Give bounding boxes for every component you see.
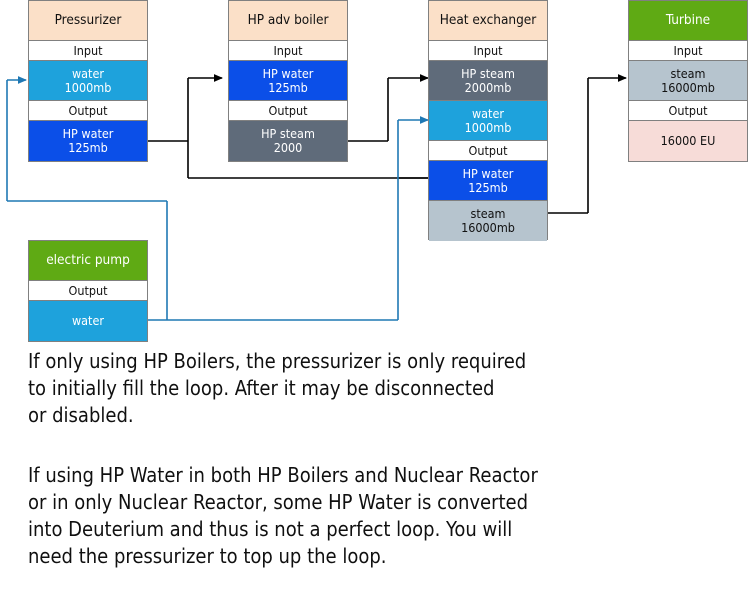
fluid-name: HP water: [463, 167, 514, 181]
eu-amount: 16000 EU: [661, 134, 716, 148]
io-label-output: Output: [29, 281, 147, 301]
fluid-slot-water[interactable]: water 1000mb: [29, 61, 147, 101]
fluid-name: water: [472, 107, 504, 121]
io-label-input: Input: [29, 41, 147, 61]
fluid-amount: 16000mb: [661, 81, 715, 95]
fluid-name: steam: [670, 67, 705, 81]
fluid-slot-water[interactable]: water 1000mb: [429, 101, 547, 141]
fluid-slot-hp-water[interactable]: HP water 125mb: [429, 161, 547, 201]
note-paragraph-1: If only using HP Boilers, the pressurize…: [28, 348, 728, 429]
node-heat-exchanger[interactable]: Heat exchanger Input HP steam 2000mb wat…: [428, 0, 548, 240]
io-label-input: Input: [429, 41, 547, 61]
fluid-amount: 16000mb: [461, 221, 515, 235]
fluid-name: HP water: [63, 127, 114, 141]
node-pressurizer[interactable]: Pressurizer Input water 1000mb Output HP…: [28, 0, 148, 162]
node-turbine[interactable]: Turbine Input steam 16000mb Output 16000…: [628, 0, 748, 162]
fluid-amount: 125mb: [268, 81, 308, 95]
fluid-name: HP water: [263, 67, 314, 81]
fluid-name: steam: [470, 207, 505, 221]
output-slot-eu[interactable]: 16000 EU: [629, 121, 747, 161]
fluid-amount: 2000: [274, 141, 303, 155]
fluid-amount: 125mb: [468, 181, 508, 195]
fluid-name: water: [72, 67, 104, 81]
io-label-output: Output: [29, 101, 147, 121]
fluid-name: HP steam: [261, 127, 315, 141]
wire-boiler-hpsteam-to-exchanger: [348, 78, 428, 141]
node-title: Pressurizer: [29, 1, 147, 41]
node-electric-pump[interactable]: electric pump Output water: [28, 240, 148, 342]
fluid-slot-water[interactable]: water: [29, 301, 147, 341]
fluid-slot-steam[interactable]: steam 16000mb: [429, 201, 547, 241]
fluid-amount: 2000mb: [465, 81, 512, 95]
io-label-output: Output: [429, 141, 547, 161]
fluid-slot-hp-steam[interactable]: HP steam 2000mb: [429, 61, 547, 101]
node-hp-adv-boiler[interactable]: HP adv boiler Input HP water 125mb Outpu…: [228, 0, 348, 162]
fluid-amount: 1000mb: [65, 81, 112, 95]
node-title: HP adv boiler: [229, 1, 347, 41]
fluid-slot-hp-water[interactable]: HP water 125mb: [29, 121, 147, 161]
fluid-name: water: [72, 314, 104, 328]
fluid-amount: 1000mb: [465, 121, 512, 135]
io-label-output: Output: [229, 101, 347, 121]
note-paragraph-2: If using HP Water in both HP Boilers and…: [28, 462, 744, 570]
diagram-canvas: Pressurizer Input water 1000mb Output HP…: [0, 0, 748, 600]
node-title: Turbine: [629, 1, 747, 41]
node-title: Heat exchanger: [429, 1, 547, 41]
wire-exchanger-steam-to-turbine: [548, 78, 626, 213]
fluid-slot-steam[interactable]: steam 16000mb: [629, 61, 747, 101]
fluid-slot-hp-steam[interactable]: HP steam 2000: [229, 121, 347, 161]
node-title: electric pump: [29, 241, 147, 281]
io-label-input: Input: [229, 41, 347, 61]
fluid-amount: 125mb: [68, 141, 108, 155]
fluid-slot-hp-water[interactable]: HP water 125mb: [229, 61, 347, 101]
fluid-name: HP steam: [461, 67, 515, 81]
io-label-output: Output: [629, 101, 747, 121]
io-label-input: Input: [629, 41, 747, 61]
